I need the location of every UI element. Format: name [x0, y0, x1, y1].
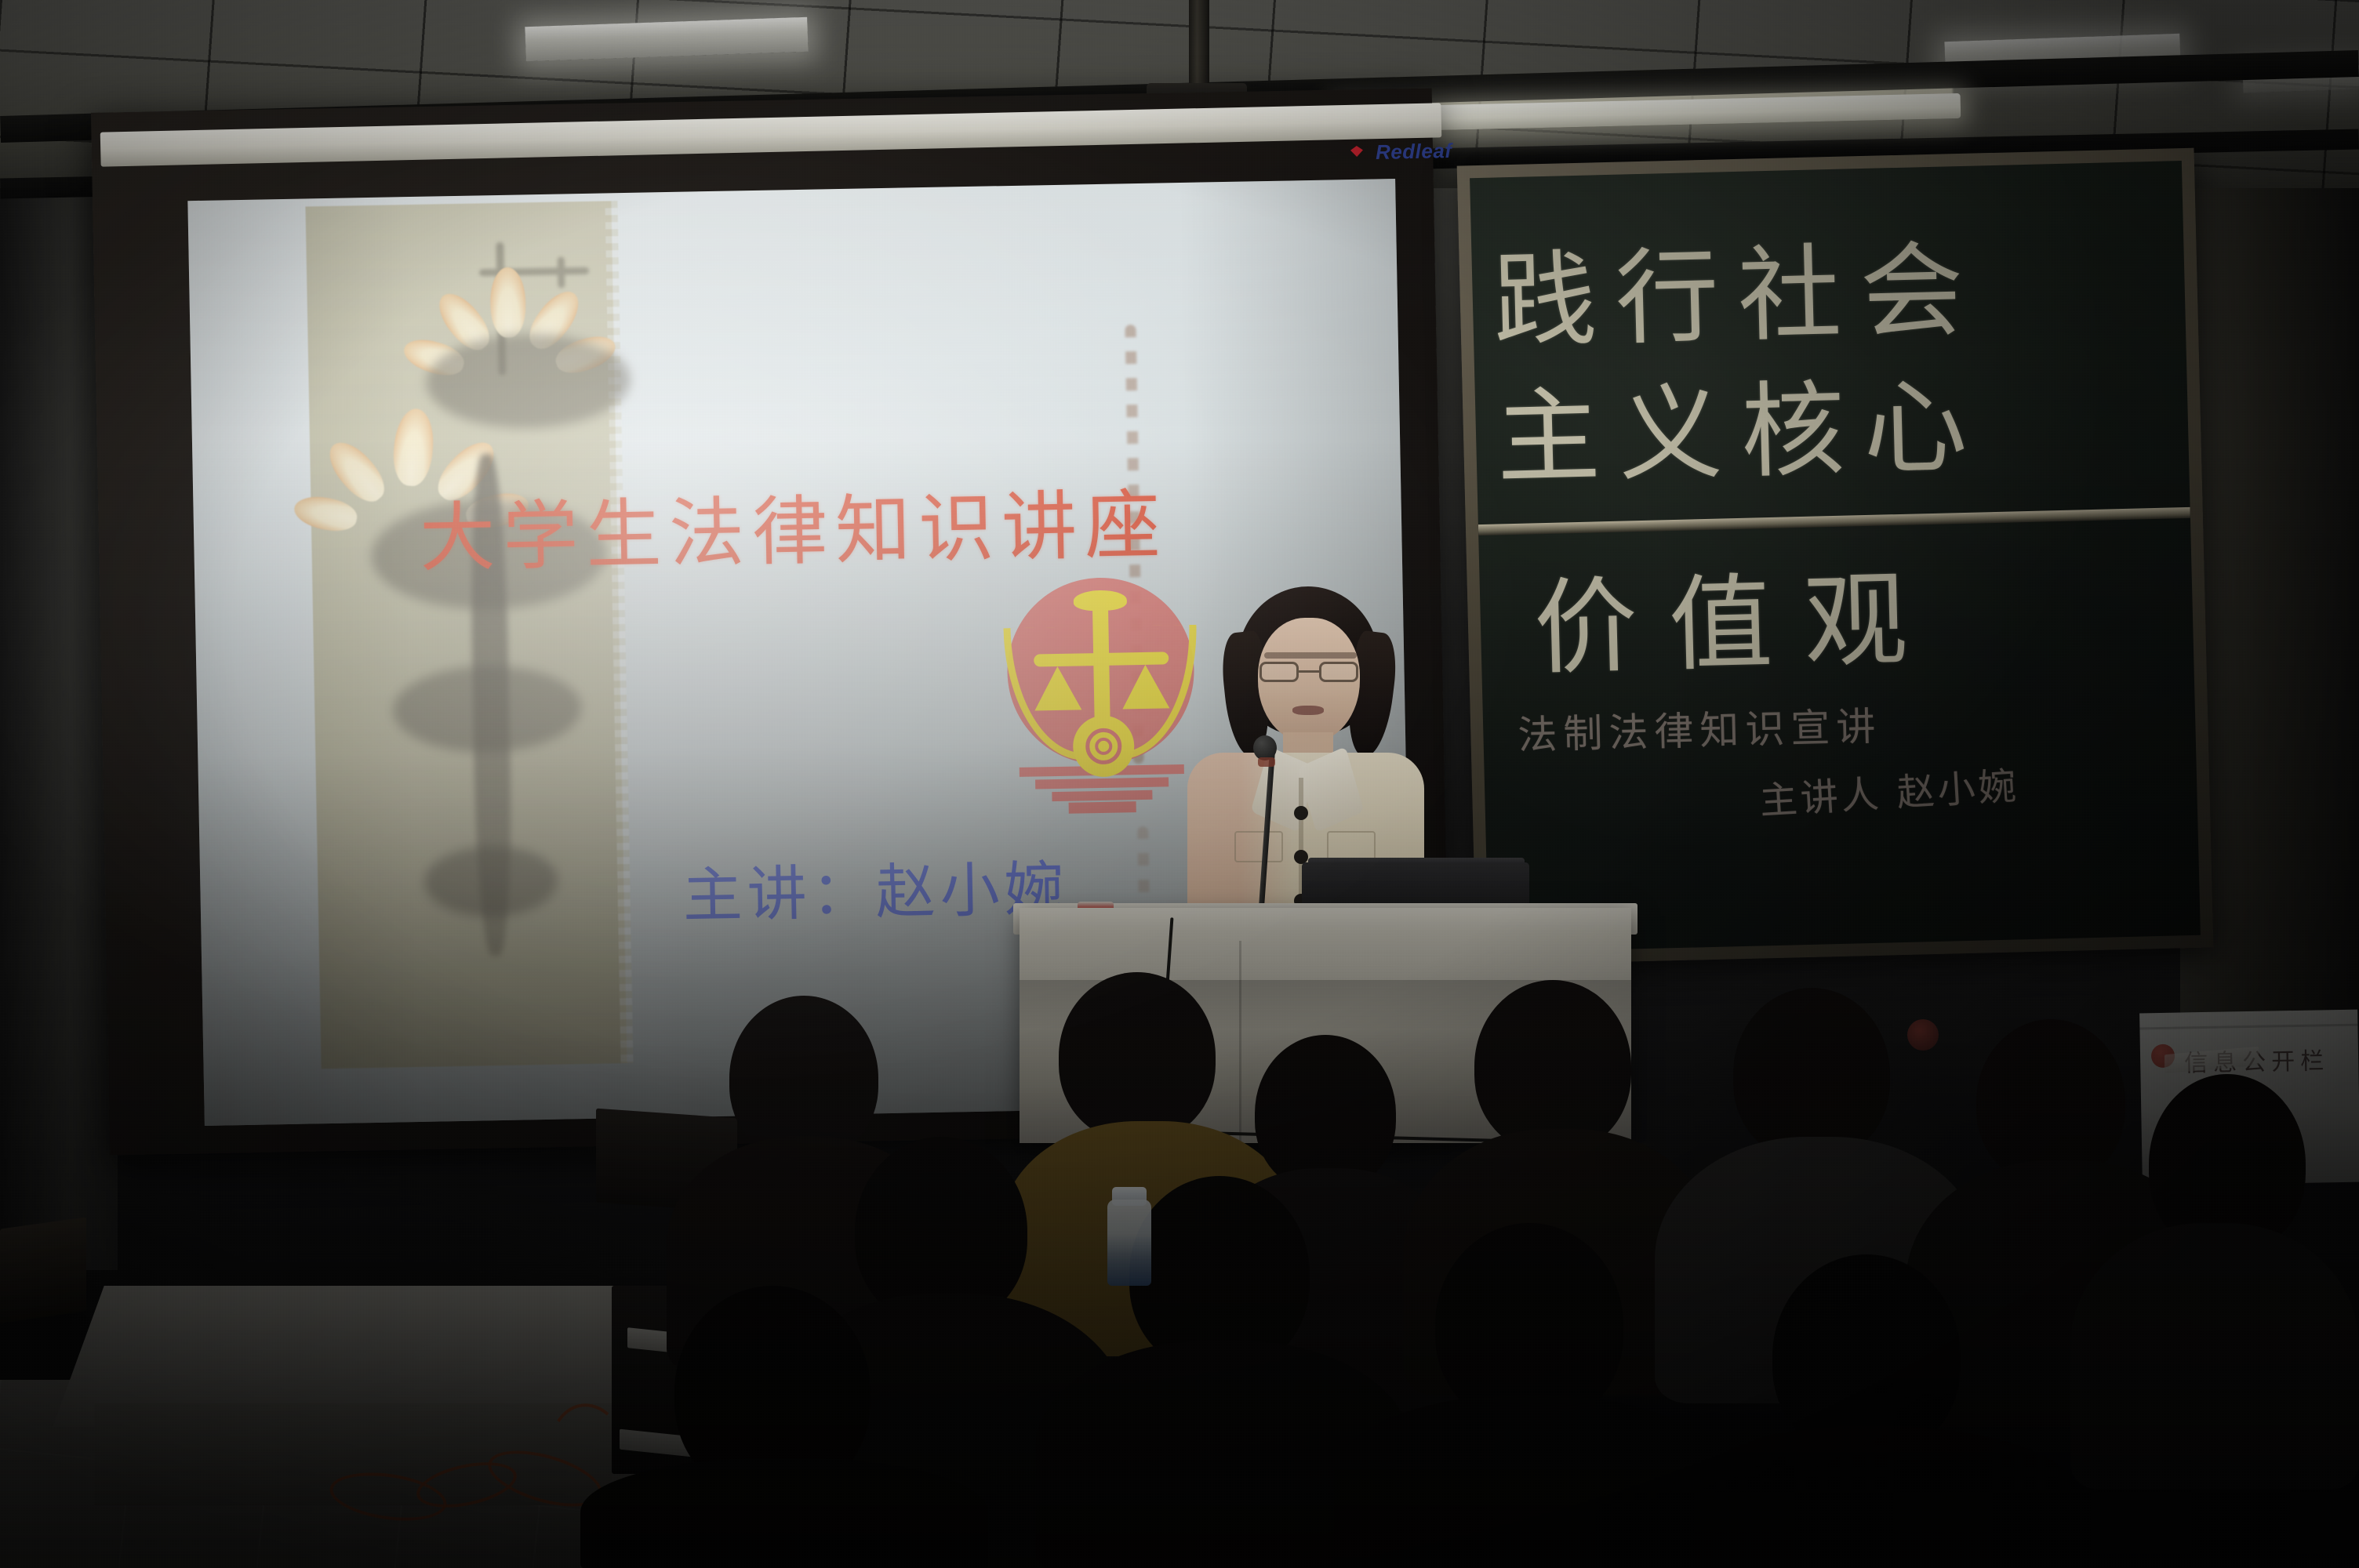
audience-head: [1059, 972, 1216, 1141]
audience-shoulders: [2070, 1223, 2359, 1490]
blackboard-headline-line-3: 价值观: [1532, 535, 1941, 695]
lectern-panel-seam: [1239, 941, 1241, 1145]
audience-head: [1474, 980, 1631, 1152]
blackboard-headline-line-2: 主义核心: [1495, 343, 1987, 504]
audience-shoulders: [580, 1458, 988, 1568]
jacket-pocket: [1234, 831, 1283, 862]
projector-mount-pole: [1189, 0, 1209, 91]
presenter-brow: [1264, 652, 1357, 659]
lecture-hall-photo: Redleaf: [0, 0, 2359, 1568]
water-bottle: [1107, 1200, 1151, 1286]
jacket-button: [1294, 806, 1308, 820]
eyeglasses-icon: [1259, 662, 1358, 682]
audience-shoulders: [1333, 1396, 1725, 1568]
blackboard-subtitle: 法制法律知识宣讲: [1517, 695, 1882, 760]
presenter-mouth: [1292, 706, 1324, 715]
blackboard-frame: 践行社会 主义核心 价值观 法制法律知识宣讲 主讲人 赵小婉: [1457, 148, 2214, 966]
side-furniture: [0, 1217, 86, 1323]
notice-divider: [2139, 1024, 2357, 1030]
microphone-band: [1258, 757, 1275, 767]
audience-head: [1733, 988, 1890, 1160]
audience-head: [729, 996, 878, 1160]
audience-shoulders: [1670, 1427, 2078, 1568]
screen-brand-label: Redleaf: [1376, 139, 1452, 165]
blackboard: 践行社会 主义核心 价值观 法制法律知识宣讲 主讲人 赵小婉: [1470, 161, 2201, 953]
audience-head: [1976, 1019, 2125, 1184]
